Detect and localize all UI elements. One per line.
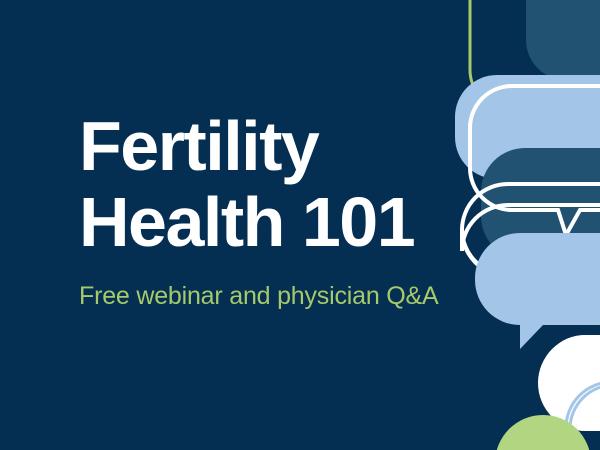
bubble-light-blue-mid-icon [475, 233, 600, 349]
subtitle-text: Free webinar and physician Q&A [79, 260, 479, 311]
bubble-medium-blue-top-icon [526, 0, 600, 80]
promo-card: Fertility Health 101 Free webinar and ph… [0, 0, 600, 450]
promo-text-block: Fertility Health 101 Free webinar and ph… [79, 108, 479, 311]
page-title-line-2: Health 101 [79, 184, 479, 260]
page-title-line-1: Fertility [79, 108, 479, 184]
